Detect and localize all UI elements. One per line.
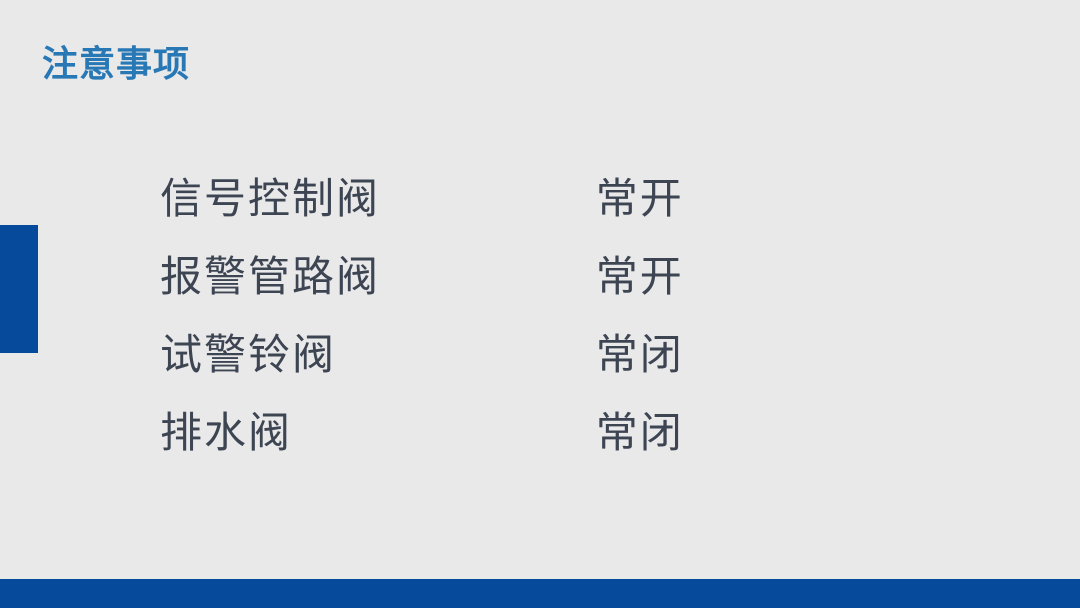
valve-state: 常闭: [594, 316, 800, 394]
table-row: 试警铃阀 常闭: [160, 316, 800, 394]
left-accent-block: [0, 225, 38, 353]
bottom-accent-bar: [0, 579, 1080, 608]
valve-state: 常开: [594, 160, 800, 238]
table-row: 排水阀 常闭: [160, 394, 800, 472]
valve-name: 信号控制阀: [160, 160, 594, 238]
valve-name: 报警管路阀: [160, 238, 594, 316]
valve-status-table: 信号控制阀 常开 报警管路阀 常开 试警铃阀 常闭 排水阀 常闭: [160, 160, 800, 472]
valve-name: 试警铃阀: [160, 316, 594, 394]
valve-status-table-body: 信号控制阀 常开 报警管路阀 常开 试警铃阀 常闭 排水阀 常闭: [160, 160, 800, 472]
valve-name: 排水阀: [160, 394, 594, 472]
valve-state: 常闭: [594, 394, 800, 472]
page-title: 注意事项: [42, 44, 190, 85]
table-row: 信号控制阀 常开: [160, 160, 800, 238]
table-row: 报警管路阀 常开: [160, 238, 800, 316]
slide-canvas: 注意事项 信号控制阀 常开 报警管路阀 常开 试警铃阀 常闭 排水阀 常闭: [0, 0, 1080, 608]
valve-state: 常开: [594, 238, 800, 316]
